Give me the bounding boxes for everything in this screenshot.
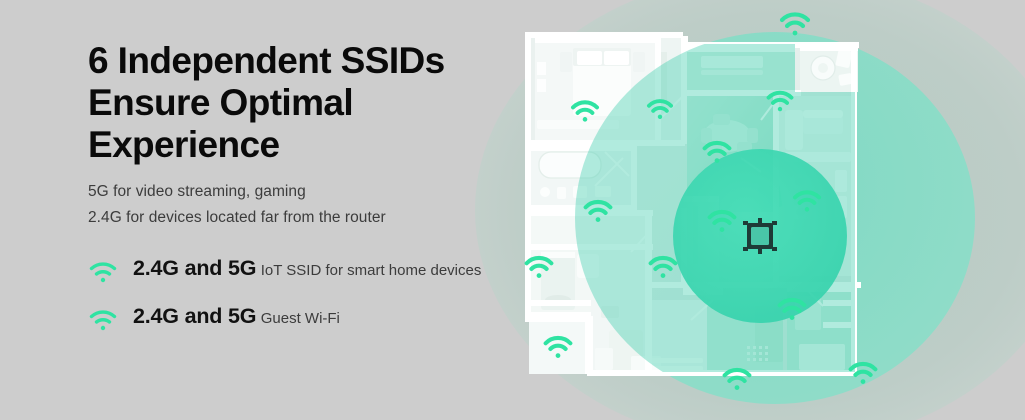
subtitle-block: 5G for video streaming, gaming 2.4G for …	[88, 179, 488, 229]
wifi-icon	[88, 308, 118, 332]
feature-title: 2.4G and 5G	[133, 304, 256, 328]
page-title: 6 Independent SSIDs Ensure Optimal Exper…	[88, 40, 488, 165]
subtitle-line-2: 2.4G for devices located far from the ro…	[88, 205, 488, 230]
feature-item-iot: 2.4G and 5G IoT SSID for smart home devi…	[88, 256, 488, 284]
home-floorplan-coverage-illustration	[455, 0, 1025, 420]
feature-text: 2.4G and 5G IoT SSID for smart home devi…	[133, 256, 481, 281]
floorplan-svg	[455, 0, 1025, 420]
subtitle-line-1: 5G for video streaming, gaming	[88, 179, 488, 204]
feature-subtitle: Guest Wi-Fi	[261, 310, 340, 327]
copy-column: 6 Independent SSIDs Ensure Optimal Exper…	[88, 40, 488, 352]
router-device	[743, 218, 777, 254]
feature-title: 2.4G and 5G	[133, 256, 256, 280]
wifi-icon	[88, 260, 118, 284]
promo-banner: 6 Independent SSIDs Ensure Optimal Exper…	[0, 0, 1025, 420]
feature-list: 2.4G and 5G IoT SSID for smart home devi…	[88, 256, 488, 332]
feature-item-guest: 2.4G and 5G Guest Wi-Fi	[88, 304, 488, 332]
feature-subtitle: IoT SSID for smart home devices	[261, 262, 482, 279]
feature-text: 2.4G and 5G Guest Wi-Fi	[133, 304, 340, 329]
